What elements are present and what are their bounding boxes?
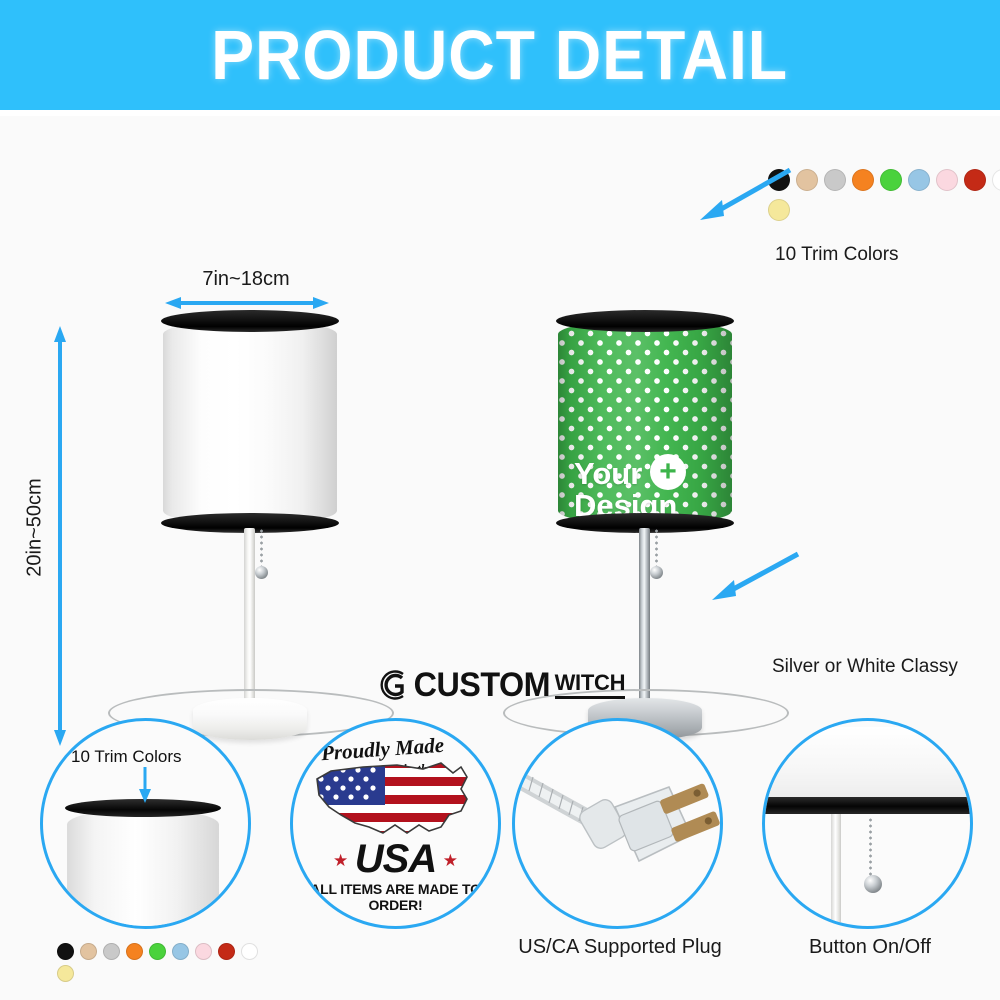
swatch-pink[interactable]	[936, 169, 958, 191]
feature-plug-caption: US/CA Supported Plug	[504, 936, 736, 959]
feature-switch-circle	[762, 718, 973, 929]
trim-swatch-row-top-1[interactable]	[768, 169, 1000, 191]
swatch-orange[interactable]	[126, 943, 143, 960]
swatch-white[interactable]	[992, 169, 1000, 191]
swatch-green[interactable]	[880, 169, 902, 191]
swatch-red[interactable]	[964, 169, 986, 191]
brand-underline	[555, 696, 626, 699]
white-shade-top-trim	[161, 310, 339, 332]
usa-map-flag-icon	[311, 753, 487, 849]
feature-switch-shade	[762, 727, 973, 801]
bottom-trim-swatches[interactable]	[57, 943, 258, 987]
swatch-white[interactable]	[241, 943, 258, 960]
feature-usa-circle: Proudly Made in the	[290, 718, 501, 929]
green-lamp-pull-chain[interactable]	[655, 528, 658, 570]
feature-plug: US/CA Supported Plug	[512, 718, 727, 978]
width-dimension-label: 7in~18cm	[186, 268, 306, 291]
green-lamp-shade: Your + Design	[558, 320, 732, 525]
feature-switch-chain-ball[interactable]	[864, 875, 882, 893]
product-detail-infographic: PRODUCT DETAIL 7in~18cm 20in~50cm	[0, 0, 1000, 1000]
white-lamp-chain-ball[interactable]	[255, 566, 268, 579]
base-finish-pointer-arrow	[698, 546, 808, 606]
usa-subtitle: ALL ITEMS ARE MADE TO ORDER!	[293, 881, 498, 913]
trim-colors-pointer-arrow	[690, 164, 800, 224]
brand-name-witch-wrap: WITCH	[555, 672, 626, 699]
feature-trim-colors-label: 10 Trim Colors	[71, 747, 182, 767]
feature-made-in-usa: Proudly Made in the	[290, 718, 505, 933]
white-lamp-pull-chain[interactable]	[260, 528, 263, 570]
swatch-light-blue[interactable]	[908, 169, 930, 191]
brand-name-custom: CUSTOM	[413, 666, 550, 705]
height-dimension-label: 20in~50cm	[24, 458, 47, 598]
swatch-green[interactable]	[149, 943, 166, 960]
page-title: PRODUCT DETAIL	[212, 15, 789, 95]
brand-name-witch: WITCH	[555, 672, 626, 696]
add-design-plus-icon[interactable]: +	[650, 454, 686, 490]
header-banner: PRODUCT DETAIL	[0, 0, 1000, 110]
usa-star-right-icon: ★	[443, 851, 458, 871]
feature-plug-circle	[512, 718, 723, 929]
feature-trim-down-arrow	[137, 767, 153, 803]
green-shade-top-trim	[556, 310, 734, 332]
bottom-swatch-row-2[interactable]	[57, 965, 258, 982]
swatch-black[interactable]	[57, 943, 74, 960]
brand-c-mark-icon	[375, 668, 409, 702]
feature-trim-shade	[67, 809, 219, 929]
trim-colors-label-top: 10 Trim Colors	[775, 244, 899, 266]
feature-switch-pole	[831, 814, 841, 929]
swatch-yellow[interactable]	[57, 965, 74, 982]
swatch-pink[interactable]	[195, 943, 212, 960]
feature-switch-pull-chain[interactable]	[869, 817, 872, 879]
swatch-tan[interactable]	[80, 943, 97, 960]
green-lamp-chain-ball[interactable]	[650, 566, 663, 579]
power-plug-icon	[519, 751, 723, 901]
design-line-1: Your	[574, 458, 642, 490]
feature-switch-black-rim	[762, 797, 973, 814]
swatch-gray[interactable]	[103, 943, 120, 960]
usa-big-text: USA	[293, 837, 498, 882]
feature-switch-caption: Button On/Off	[754, 936, 986, 959]
brand-logo: CUSTOM WITCH	[0, 662, 1000, 708]
main-stage: 7in~18cm 20in~50cm	[0, 116, 1000, 710]
swatch-gray[interactable]	[824, 169, 846, 191]
usa-star-left-icon: ★	[333, 851, 348, 871]
white-shade-surface	[163, 320, 337, 525]
feature-trim-colors-circle: 10 Trim Colors	[40, 718, 251, 929]
feature-trim-colors: 10 Trim Colors	[40, 718, 255, 933]
swatch-orange[interactable]	[852, 169, 874, 191]
bottom-swatch-row-1[interactable]	[57, 943, 258, 960]
swatch-red[interactable]	[218, 943, 235, 960]
swatch-light-blue[interactable]	[172, 943, 189, 960]
feature-switch: Button On/Off	[762, 718, 977, 978]
white-lamp-shade	[163, 320, 337, 525]
